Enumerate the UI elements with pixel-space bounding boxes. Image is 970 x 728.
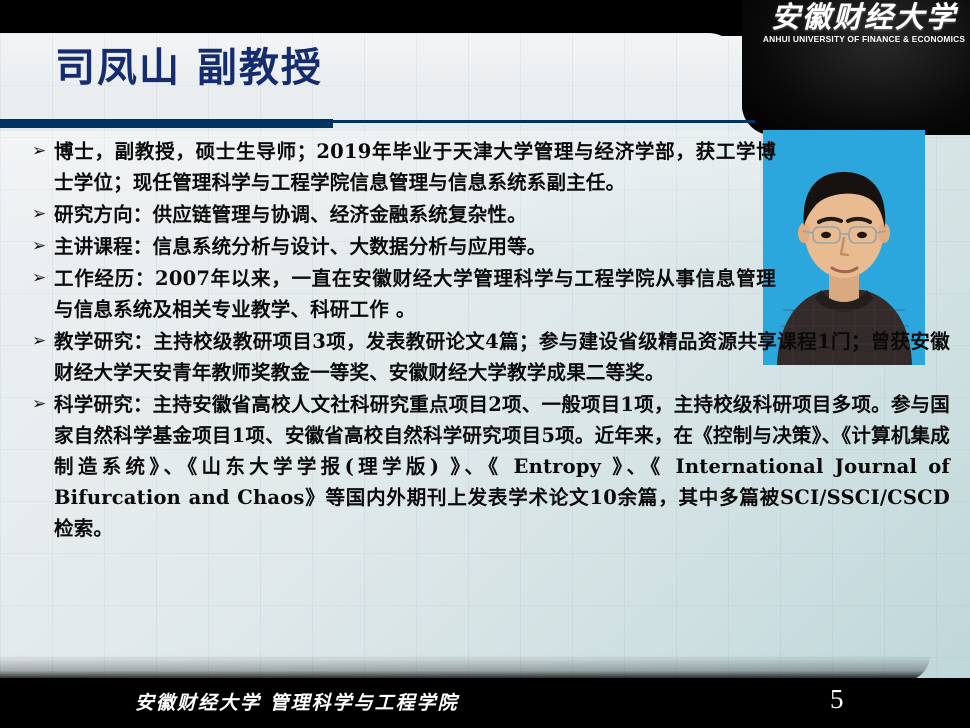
page-number: 5: [830, 684, 844, 714]
bullet-list: ➢ 博士，副教授，硕士生导师；2019年毕业于天津大学管理与经济学部，获工学博士…: [22, 136, 950, 545]
list-item-text: 工作经历：2007年以来，一直在安徽财经大学管理科学与工程学院从事信息管理与信息…: [54, 263, 776, 325]
bullet-arrow-icon: ➢: [22, 199, 54, 230]
bullet-arrow-icon: ➢: [22, 231, 54, 262]
footer-text: 安徽财经大学 管理科学与工程学院: [135, 688, 459, 715]
university-logo-en: ANHUI UNIVERSITY OF FINANCE & ECONOMICS: [758, 35, 970, 44]
presentation-slide: 安徽财经大学 ANHUI UNIVERSITY OF FINANCE & ECO…: [0, 0, 970, 728]
list-item-text: 博士，副教授，硕士生导师；2019年毕业于天津大学管理与经济学部，获工学博士学位…: [54, 136, 776, 198]
page-title: 司凤山 副教授: [55, 48, 323, 88]
bullet-arrow-icon: ➢: [22, 389, 54, 420]
list-item: ➢ 科学研究：主持安徽省高校人文社科研究重点项目2项、一般项目1项，主持校级科研…: [22, 389, 950, 544]
list-item: ➢ 研究方向：供应链管理与协调、经济金融系统复杂性。: [22, 199, 950, 230]
title-divider-thin: [333, 120, 755, 123]
list-item-text: 主讲课程：信息系统分析与设计、大数据分析与应用等。: [54, 231, 776, 262]
list-item: ➢ 工作经历：2007年以来，一直在安徽财经大学管理科学与工程学院从事信息管理与…: [22, 263, 950, 325]
list-item-text: 研究方向：供应链管理与协调、经济金融系统复杂性。: [54, 199, 776, 230]
university-logo-cn: 安徽财经大学: [760, 2, 968, 32]
bullet-arrow-icon: ➢: [22, 326, 54, 357]
university-logo: 安徽财经大学 ANHUI UNIVERSITY OF FINANCE & ECO…: [760, 2, 968, 44]
bullet-arrow-icon: ➢: [22, 263, 54, 294]
list-item: ➢ 主讲课程：信息系统分析与设计、大数据分析与应用等。: [22, 231, 950, 262]
title-divider-thick: [0, 119, 333, 128]
list-item-text: 教学研究：主持校级教研项目3项，发表教研论文4篇；参与建设省级精品资源共享课程1…: [54, 326, 950, 388]
list-item: ➢ 教学研究：主持校级教研项目3项，发表教研论文4篇；参与建设省级精品资源共享课…: [22, 326, 950, 388]
list-item-text: 科学研究：主持安徽省高校人文社科研究重点项目2项、一般项目1项，主持校级科研项目…: [54, 389, 950, 544]
list-item: ➢ 博士，副教授，硕士生导师；2019年毕业于天津大学管理与经济学部，获工学博士…: [22, 136, 950, 198]
bullet-arrow-icon: ➢: [22, 136, 54, 167]
